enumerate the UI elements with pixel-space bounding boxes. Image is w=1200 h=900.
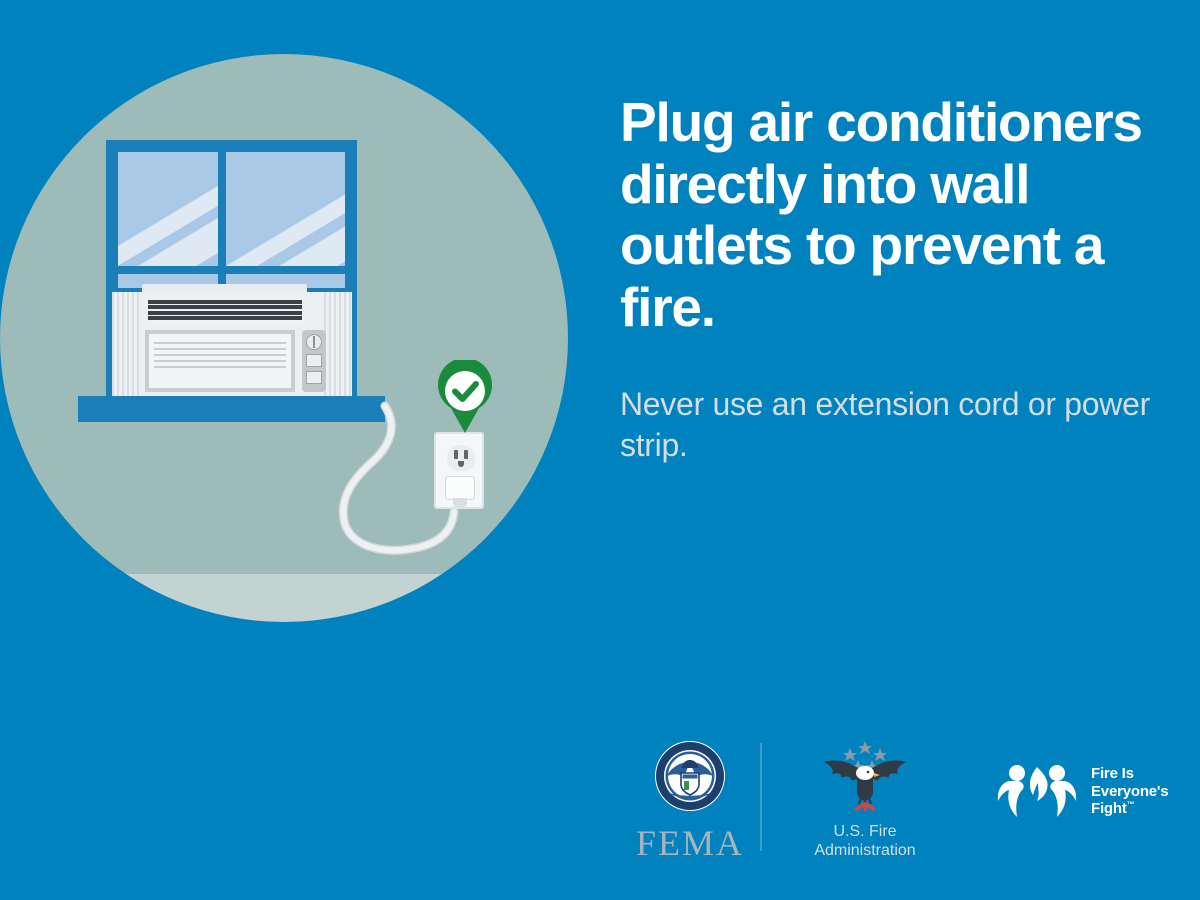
trademark-symbol: ™ [1127,800,1135,809]
ac-front-grille [145,330,295,392]
fief-wordmark: Fire Is Everyone's Fight™ [1091,765,1168,818]
room-floor [0,574,568,622]
page-title: Plug air conditioners directly into wall… [620,92,1160,338]
logo-divider [760,743,762,851]
usfa-eagle-icon [818,740,912,814]
footer-logo-bar: FEMA [600,735,1180,865]
outlet-slot [454,450,458,459]
flame-icon [853,802,877,812]
fief-line-1: Fire Is [1091,765,1168,783]
scene-circle [0,54,568,622]
ac-grille-inner [149,334,291,388]
fief-line-3: Fight™ [1091,800,1168,818]
ac-vent-slat [148,316,302,320]
usfa-line-1: U.S. Fire [785,823,945,842]
dhs-seal-icon [654,740,726,812]
ac-louver [154,366,286,368]
window-sill [78,396,385,422]
power-plug [445,476,475,500]
wall-outlet [434,432,484,509]
fief-line-3-text: Fight [1091,800,1127,817]
ac-side-vent-left [112,292,140,400]
approved-check-badge [434,360,496,434]
ac-side-vent-right [324,292,352,400]
ac-button [306,371,322,384]
message-column: Plug air conditioners directly into wall… [620,92,1160,466]
outlet-ground-hole [458,461,464,467]
fire-is-everyones-fight-logo: Fire Is Everyone's Fight™ [995,757,1175,827]
window-pane-top-right [226,152,345,266]
ac-louver [154,354,286,356]
ac-control-panel [302,330,326,392]
poster-canvas: Plug air conditioners directly into wall… [0,0,1200,900]
air-conditioner-unit [112,284,352,400]
ac-louver [154,342,286,344]
fema-logo: FEMA [620,740,760,861]
outlet-socket-upper [447,445,475,471]
plug-cord-neck [453,498,467,507]
illustration-scene [0,54,568,622]
usfa-logo: U.S. Fire Administration [785,740,945,861]
ac-vent-slat [148,305,302,309]
fief-line-2: Everyone's [1091,783,1168,801]
ac-vent-slat [148,300,302,304]
usfa-line-2: Administration [785,842,945,861]
ac-louver [154,348,286,350]
window-pane-top-left [118,152,218,266]
ac-vent-slat [148,311,302,315]
fema-wordmark: FEMA [620,825,760,861]
two-people-flame-icon [995,757,1085,819]
ac-button [306,354,322,367]
ac-top-vent [145,296,305,326]
page-subtitle: Never use an extension cord or power str… [620,384,1160,466]
usfa-wordmark: U.S. Fire Administration [785,823,945,861]
ac-louver [154,360,286,362]
outlet-slot [464,450,468,459]
ac-dial-knob [306,334,322,350]
